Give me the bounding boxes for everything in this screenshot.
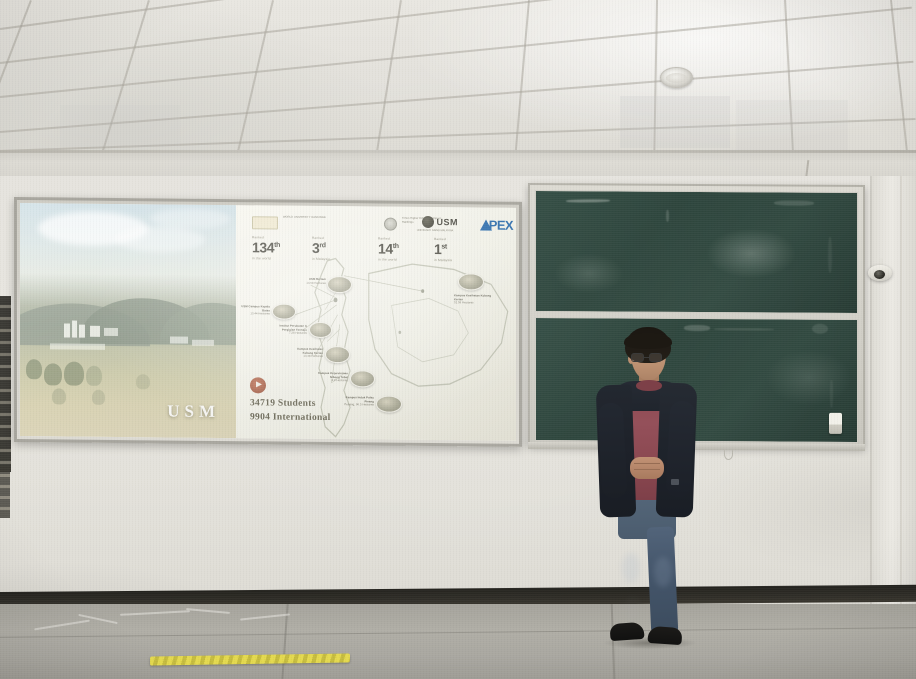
map-marker-sub: 8.9 Hectares (332, 379, 348, 382)
ranking-number: 14 (378, 240, 393, 256)
presenter-collar (636, 380, 662, 391)
presenter-hands (630, 457, 664, 479)
student-stats: 34719 Students 9904 International (250, 377, 331, 425)
presenter-arm-right (666, 400, 696, 497)
classroom-photo: USM WORLD UNIVERSITY RANKINGS Times High… (0, 0, 916, 679)
map-marker-sub: 52.58 Hectares (454, 301, 474, 304)
soffit-edge (0, 150, 916, 153)
apex-logo-text: PEX (489, 218, 513, 233)
map-marker[interactable] (458, 273, 484, 290)
ranking-value: 134th (252, 240, 298, 254)
ranking-ordinal: st (441, 243, 446, 250)
qs-ranking-badge-icon (252, 216, 278, 229)
chalk-eraser[interactable] (829, 413, 842, 434)
map-marker-label: USM Bertam 13.58 Hectares (294, 278, 326, 285)
map-marker-label: Kampus Induk Pulau Pinang Penang, 96.5 H… (340, 396, 374, 407)
ranking-number: 134 (252, 239, 274, 255)
presenter-jacket-label (671, 479, 679, 485)
map-marker[interactable] (376, 395, 402, 412)
map-marker[interactable] (325, 346, 350, 363)
map-marker-sub: 13.38 Hectares (303, 355, 323, 358)
map-marker[interactable] (272, 303, 296, 319)
usm-crest-icon (422, 216, 434, 228)
wall-fixture-strip (0, 296, 11, 472)
map-marker[interactable] (327, 276, 352, 293)
presenter-arm-left (598, 402, 628, 498)
ranking-value: 1st (434, 242, 468, 256)
ceiling-tile (60, 105, 180, 147)
presenter (586, 327, 706, 657)
tray-hook (724, 449, 733, 460)
campus-photo-watermark: USM (167, 401, 220, 422)
ceiling-tile (736, 100, 848, 150)
map-marker-sub: 7.28 Hectares (289, 332, 307, 335)
ceiling-light-icon (660, 67, 693, 88)
map-marker[interactable] (350, 370, 375, 387)
the-impact-ranking-badge-icon (384, 218, 397, 231)
students-count: 34719 Students (250, 396, 331, 411)
slide-header: WORLD UNIVERSITY RANKINGS Times Higher E… (236, 209, 516, 260)
map-marker-sub: 13.44 Hectares (250, 312, 270, 315)
presenter-hair-fringe (624, 333, 672, 349)
ranking-value: 14th (378, 241, 420, 255)
apex-logo: PEX (480, 217, 513, 232)
qs-ranking-badge-caption: WORLD UNIVERSITY RANKINGS (283, 216, 331, 220)
ceiling-tile (620, 96, 730, 148)
wall-fixture-strip (0, 466, 10, 518)
eyeglasses-icon (631, 353, 665, 363)
map-marker-sub: 13.58 Hectares (306, 281, 326, 284)
ranking-value: 3rd (312, 241, 346, 255)
pillar-edge (900, 176, 902, 626)
campus-photo-panel: USM (20, 203, 236, 438)
map-marker-label: Institut Perubatan & Pergigian Termaju 7… (276, 325, 307, 336)
map-marker-sub: Penang, 96.5 Hectares (344, 403, 374, 406)
projection-screen-surface: USM WORLD UNIVERSITY RANKINGS Times High… (20, 203, 516, 441)
map-marker-label: USM Campus Kepala Batas 13.44 Hectares (238, 305, 270, 316)
camera-lens-icon (874, 270, 885, 279)
presenter-shoe-left (609, 622, 644, 641)
pillar-edge (870, 176, 872, 626)
usm-logo: USM (422, 216, 459, 228)
ranking-ordinal: rd (319, 242, 325, 249)
ceiling (0, 0, 916, 172)
map-marker-label: Kampus Kesihatan Kubang Kerian 13.38 Hec… (290, 348, 323, 359)
usm-logo-text: USM (437, 217, 459, 227)
ranking-ordinal: th (274, 242, 280, 249)
floor (0, 604, 916, 679)
play-circle-icon (250, 377, 266, 393)
ranking-ordinal: th (393, 243, 399, 250)
projection-screen[interactable]: USM WORLD UNIVERSITY RANKINGS Times High… (14, 197, 522, 447)
blackboard-panel-top[interactable] (535, 190, 858, 314)
qs-ranking-badge: WORLD UNIVERSITY RANKINGS (252, 215, 331, 230)
usm-logo-tagline: UNIVERSITI SAINS MALAYSIA (412, 229, 458, 232)
international-count: 9904 International (250, 410, 331, 425)
presenter-shoe-right (647, 626, 682, 645)
infographic-slide: WORLD UNIVERSITY RANKINGS Times Higher E… (236, 205, 516, 441)
wall-pillar (872, 176, 916, 626)
map-marker[interactable] (309, 322, 332, 338)
map-marker-label: Kampus Kesihatan Kubang Kerian 52.58 Hec… (454, 294, 496, 305)
